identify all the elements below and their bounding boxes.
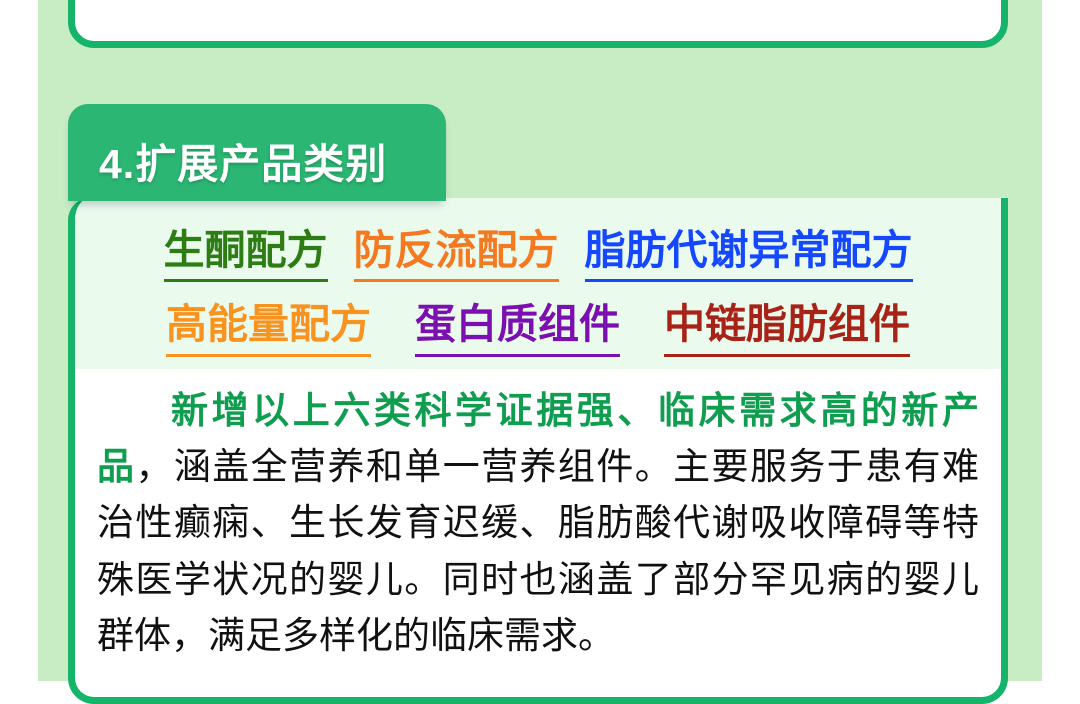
product-category-tag-grid: 生酮配方 防反流配方 脂肪代谢异常配方 高能量配方 蛋白质组件 中链脂肪组件 xyxy=(75,198,1001,369)
tag-row-2: 高能量配方 蛋白质组件 中链脂肪组件 xyxy=(75,298,1001,356)
tag-row-1: 生酮配方 防反流配方 脂肪代谢异常配方 xyxy=(75,224,1001,282)
infographic-page: 4.扩展产品类别 生酮配方 防反流配方 脂肪代谢异常配方 高能量配方 蛋白质组件… xyxy=(0,0,1080,681)
section-4-body-card: 生酮配方 防反流配方 脂肪代谢异常配方 高能量配方 蛋白质组件 中链脂肪组件 新… xyxy=(68,198,1008,704)
tag-fat-metabolism-disorder-formula: 脂肪代谢异常配方 xyxy=(585,224,913,282)
section-4-title: 4.扩展产品类别 xyxy=(99,130,387,190)
description-body-text: ，涵盖全营养和单一营养组件。主要服务于患有难治性癫痫、生长发育迟缓、脂肪酸代谢吸… xyxy=(97,446,979,656)
section-4-description: 新增以上六类科学证据强、临床需求高的新产品，涵盖全营养和单一营养组件。主要服务于… xyxy=(75,369,1001,664)
tag-ketogenic-formula: 生酮配方 xyxy=(164,224,328,282)
section-4-header-tab: 4.扩展产品类别 xyxy=(68,104,446,201)
tag-mct-fat-module: 中链脂肪组件 xyxy=(664,298,910,356)
section-4-block: 4.扩展产品类别 生酮配方 防反流配方 脂肪代谢异常配方 高能量配方 蛋白质组件… xyxy=(68,104,1008,704)
tag-high-energy-formula: 高能量配方 xyxy=(166,298,371,356)
tag-protein-module: 蛋白质组件 xyxy=(415,298,620,356)
tag-antireflux-formula: 防反流配方 xyxy=(354,224,559,282)
previous-section-card-partial xyxy=(68,0,1008,48)
